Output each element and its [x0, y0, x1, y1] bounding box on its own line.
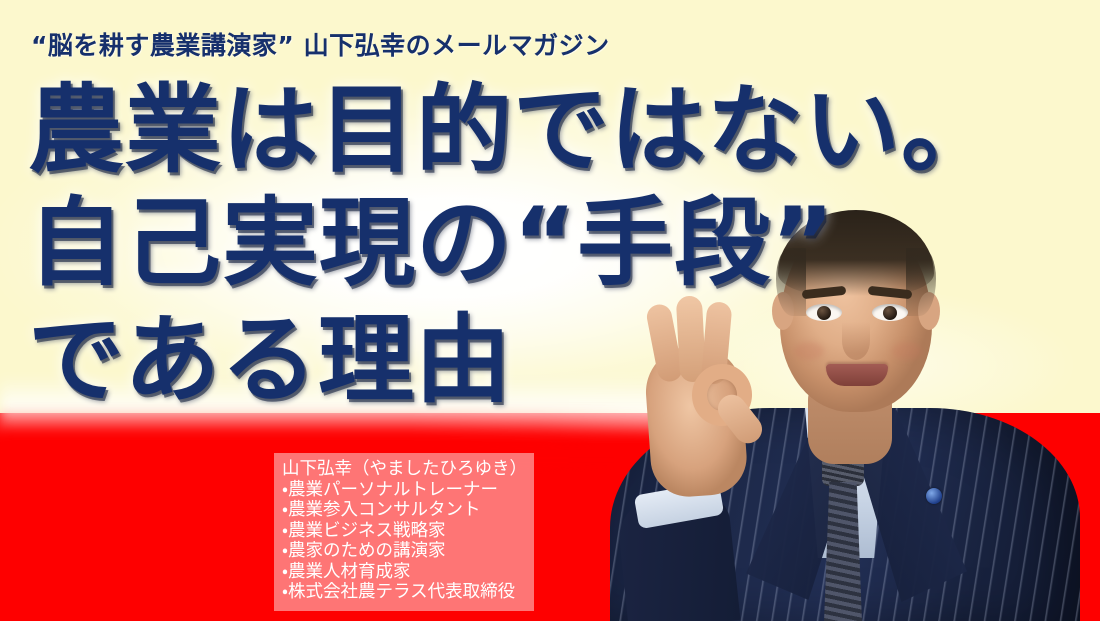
necktie: [824, 482, 862, 621]
list-item: ・農家のための講演家: [282, 541, 526, 562]
kicker-text: “脳を耕す農業講演家” 山下弘幸のメールマガジン: [31, 26, 610, 62]
list-item: ・株式会社農テラス代表取締役: [282, 582, 526, 603]
mouth: [826, 364, 888, 386]
list-item: ・農業人材育成家: [282, 562, 526, 583]
headline-line-2: 自己実現の“手段”: [28, 195, 835, 291]
list-item: ・農業ビジネス戦略家: [282, 521, 526, 542]
headline-line-1: 農業は目的ではない。: [28, 82, 998, 178]
profile-role-list: ・農業パーソナルトレーナー ・農業参入コンサルタント ・農業ビジネス戦略家 ・農…: [282, 480, 526, 603]
list-item: ・農業参入コンサルタント: [282, 500, 526, 521]
cheek-left: [794, 342, 824, 360]
headline-line-3: である理由: [28, 312, 512, 408]
nose: [842, 322, 870, 360]
list-item: ・農業パーソナルトレーナー: [282, 480, 526, 501]
mail-magazine-banner: “脳を耕す農業講演家” 山下弘幸のメールマガジン 農業は目的ではない。 自己実現…: [0, 0, 1100, 621]
cheek-right: [892, 342, 922, 360]
pupil-right: [883, 306, 897, 320]
pupil-left: [817, 306, 831, 320]
profile-name: 山下弘幸（やましたひろゆき）: [282, 459, 526, 480]
lapel-pin-icon: [926, 488, 942, 504]
profile-card: 山下弘幸（やましたひろゆき） ・農業パーソナルトレーナー ・農業参入コンサルタン…: [274, 453, 534, 611]
